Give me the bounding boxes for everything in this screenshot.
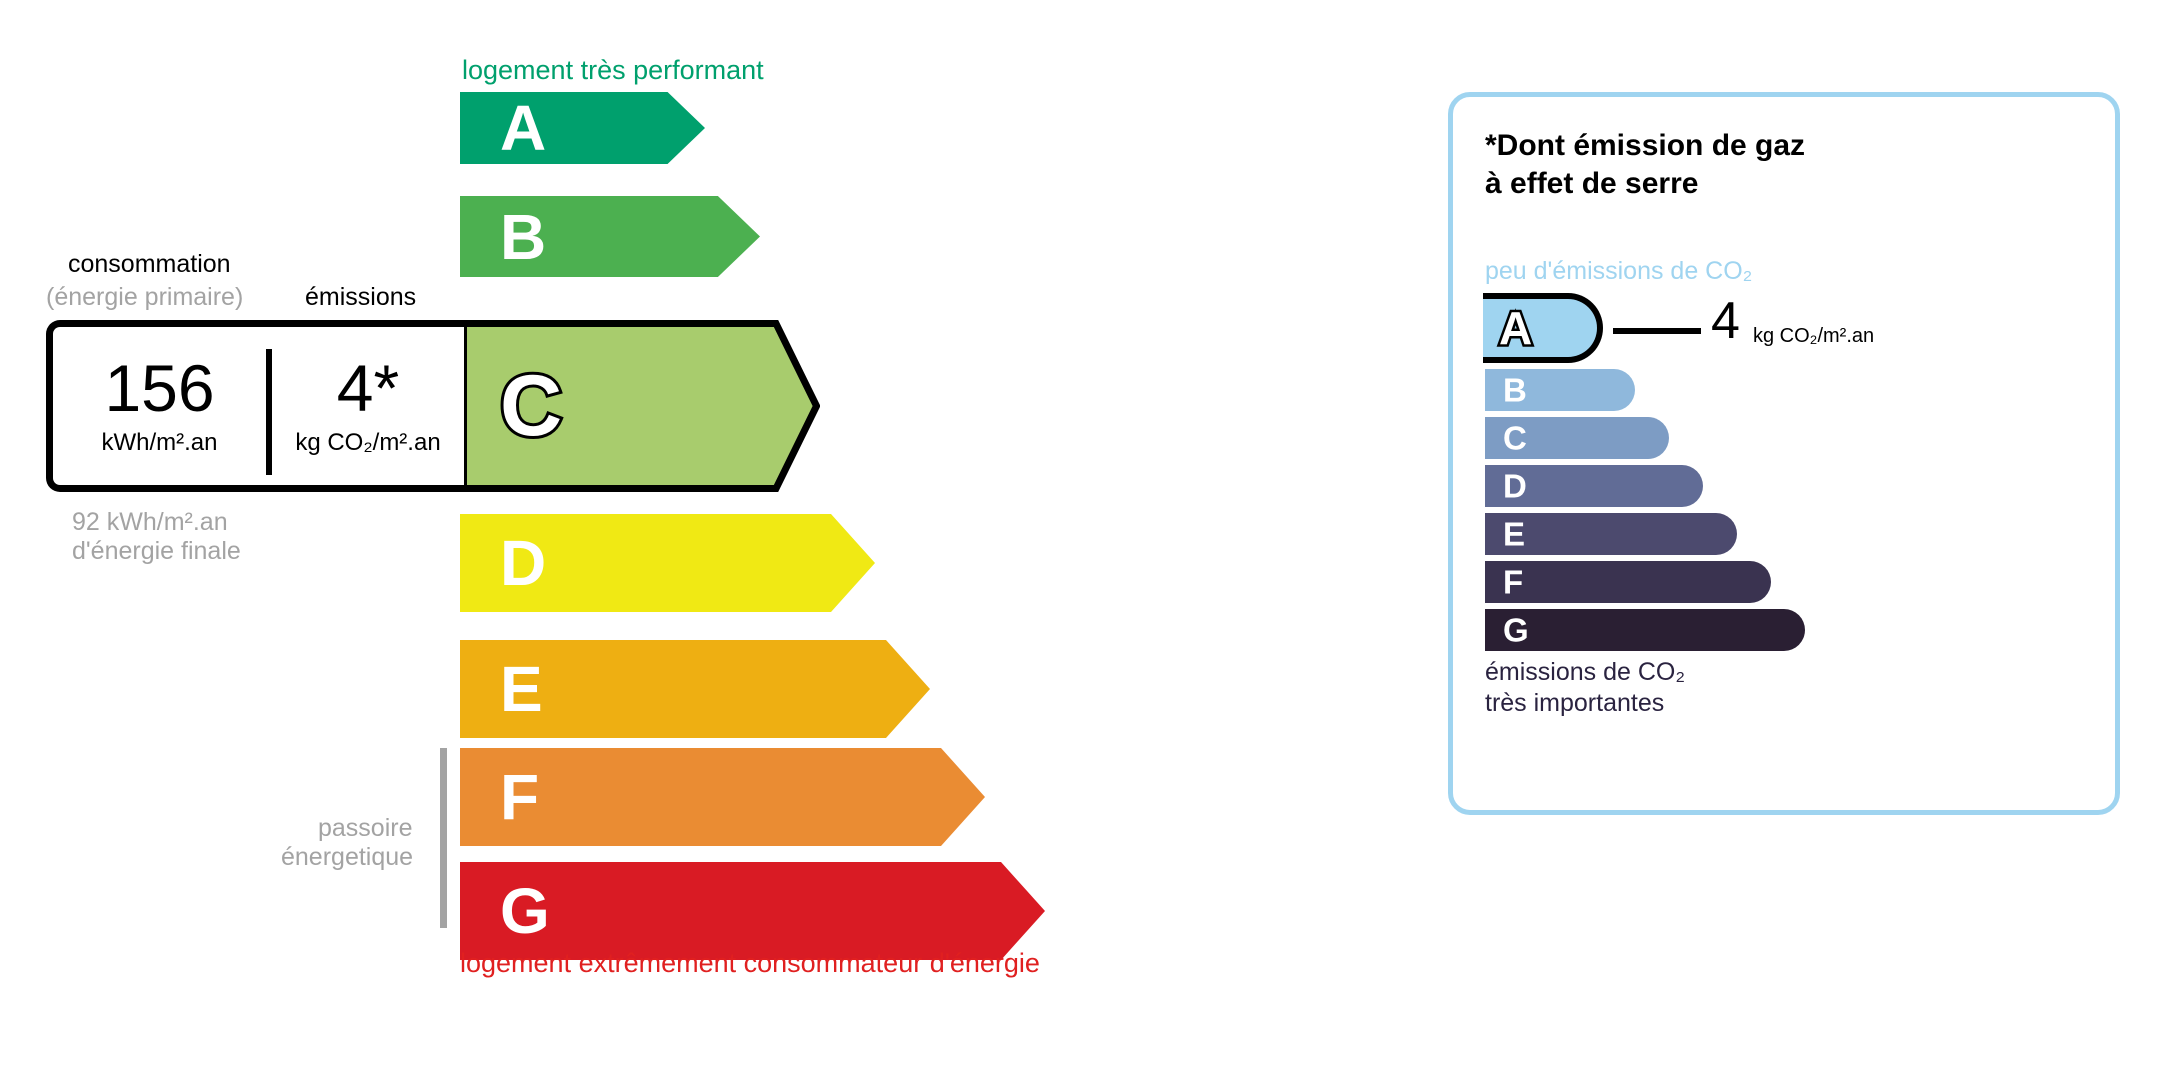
energy-scale-chart: logement très performant ABCDEFG 156 kWh…	[0, 0, 1400, 1079]
co2-badge-letter: A	[1499, 305, 1532, 351]
energy-band-g: G	[460, 862, 1045, 960]
co2-bar-shape: C	[1485, 417, 1669, 459]
co2-value: 4	[1711, 295, 1740, 347]
co2-bar-shape: D	[1485, 465, 1703, 507]
band-letter: E	[500, 657, 543, 721]
bottom-caption: logement extrêmement consommateur d'éner…	[460, 948, 1040, 979]
dpe-energy-label: logement très performant ABCDEFG 156 kWh…	[0, 0, 2169, 1079]
energy-band-c: C	[460, 320, 820, 492]
co2-value-unit: kg CO₂/m².an	[1753, 325, 1874, 348]
co2-panel: *Dont émission de gaz à effet de serre p…	[1448, 92, 2120, 815]
passoire-indicator-bar	[440, 748, 447, 928]
co2-bar-d: D	[1485, 465, 1703, 507]
band-letter: F	[500, 765, 539, 829]
consumption-value: 156	[104, 355, 214, 421]
co2-bar-letter: F	[1503, 566, 1523, 599]
energy-band-b: B	[460, 196, 760, 277]
co2-title-line2: à effet de serre	[1485, 165, 1805, 203]
co2-high-line1: émissions de CO₂	[1485, 657, 1685, 688]
co2-leader-line	[1613, 328, 1701, 334]
co2-bar-letter: D	[1503, 470, 1527, 503]
co2-bar-letter: B	[1503, 374, 1527, 407]
co2-bar-letter: E	[1503, 518, 1525, 551]
value-box: 156 kWh/m².an 4* kg CO₂/m².an	[46, 320, 464, 492]
co2-bar-shape: F	[1485, 561, 1771, 603]
passoire-label-line2: énergetique	[281, 843, 413, 872]
co2-bar-shape: G	[1485, 609, 1805, 651]
co2-high-line2: très importantes	[1485, 688, 1685, 719]
co2-bar-c: C	[1485, 417, 1669, 459]
band-letter: G	[500, 879, 550, 943]
emissions-label: émissions	[305, 283, 416, 312]
energy-band-d: D	[460, 514, 875, 612]
co2-bar-f: F	[1485, 561, 1771, 603]
band-letter: B	[500, 205, 546, 269]
co2-bar-shape: E	[1485, 513, 1737, 555]
energy-band-a: A	[460, 92, 705, 164]
emissions-cell: 4* kg CO₂/m².an	[272, 327, 464, 485]
emissions-value: 4*	[337, 355, 399, 421]
co2-bar-shape: B	[1485, 369, 1635, 411]
co2-low-label: peu d'émissions de CO₂	[1485, 257, 1752, 286]
consumption-label-secondary: (énergie primaire)	[46, 283, 243, 312]
band-letter: A	[500, 96, 546, 160]
energy-band-f: F	[460, 748, 985, 846]
co2-high-label: émissions de CO₂ très importantes	[1485, 657, 1685, 720]
final-energy-value: 92 kWh/m².an	[72, 508, 228, 537]
band-letter: C	[500, 363, 562, 449]
co2-title-line1: *Dont émission de gaz	[1485, 127, 1805, 165]
band-letter: D	[500, 531, 546, 595]
final-energy-label: d'énergie finale	[72, 537, 241, 566]
co2-panel-title: *Dont émission de gaz à effet de serre	[1485, 127, 1805, 203]
energy-band-e: E	[460, 640, 930, 738]
consumption-label-primary: consommation	[68, 250, 231, 279]
co2-bar-b: B	[1485, 369, 1635, 411]
passoire-label-line1: passoire	[318, 814, 413, 843]
consumption-cell: 156 kWh/m².an	[53, 327, 266, 485]
co2-bar-letter: C	[1503, 422, 1527, 455]
band-arrow-shape	[460, 92, 705, 164]
co2-bar-g: G	[1485, 609, 1805, 651]
co2-selected-badge-a: A	[1483, 293, 1603, 363]
emissions-unit: kg CO₂/m².an	[295, 429, 440, 457]
top-caption: logement très performant	[462, 55, 764, 86]
co2-bar-letter: G	[1503, 614, 1529, 647]
consumption-unit: kWh/m².an	[101, 429, 217, 457]
co2-bar-e: E	[1485, 513, 1737, 555]
